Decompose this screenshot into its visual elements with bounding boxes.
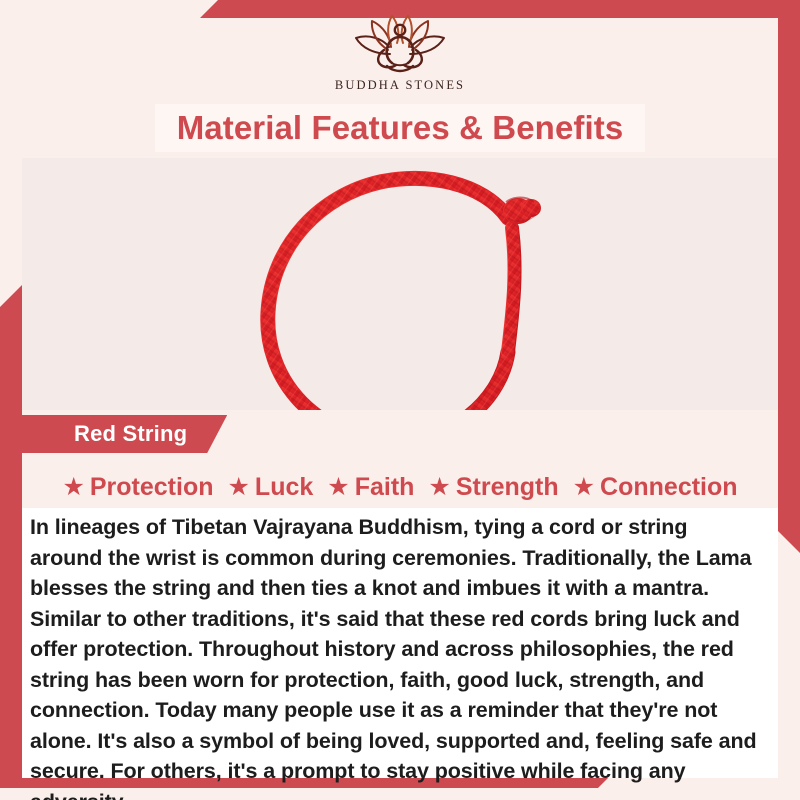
benefit-label: Faith [355,473,415,502]
description-card: In lineages of Tibetan Vajrayana Buddhis… [22,508,778,778]
decorative-left-red-bar [0,285,22,788]
product-photo-stage [22,158,778,410]
material-features-poster: BUDDHA STONES Material Features & Benefi… [0,0,800,800]
benefit-label: Luck [255,473,313,502]
description-text: In lineages of Tibetan Vajrayana Buddhis… [30,512,764,800]
benefit-item-luck: ★ Luck [228,473,314,502]
lotus-meditation-icon [344,10,456,76]
brand-logo-block: BUDDHA STONES [0,10,800,93]
star-icon: ★ [228,475,250,500]
benefit-item-connection: ★ Connection [573,473,738,502]
benefit-label: Protection [90,473,214,502]
page-title: Material Features & Benefits [177,109,624,147]
product-name-label: Red String [74,421,187,447]
benefits-row: ★ Protection ★ Luck ★ Faith ★ Strength ★… [22,466,778,508]
red-string-bracelet-image [250,166,580,410]
brand-wordmark: BUDDHA STONES [0,78,800,93]
star-icon: ★ [327,475,349,500]
benefit-label: Strength [456,473,559,502]
star-icon: ★ [573,475,595,500]
benefit-item-protection: ★ Protection [62,473,213,502]
benefit-label: Connection [600,473,738,502]
product-name-ribbon: Red String [22,415,227,453]
benefit-item-strength: ★ Strength [428,473,558,502]
star-icon: ★ [62,475,84,500]
star-icon: ★ [428,475,450,500]
benefit-item-faith: ★ Faith [327,473,414,502]
page-title-banner: Material Features & Benefits [155,104,645,152]
